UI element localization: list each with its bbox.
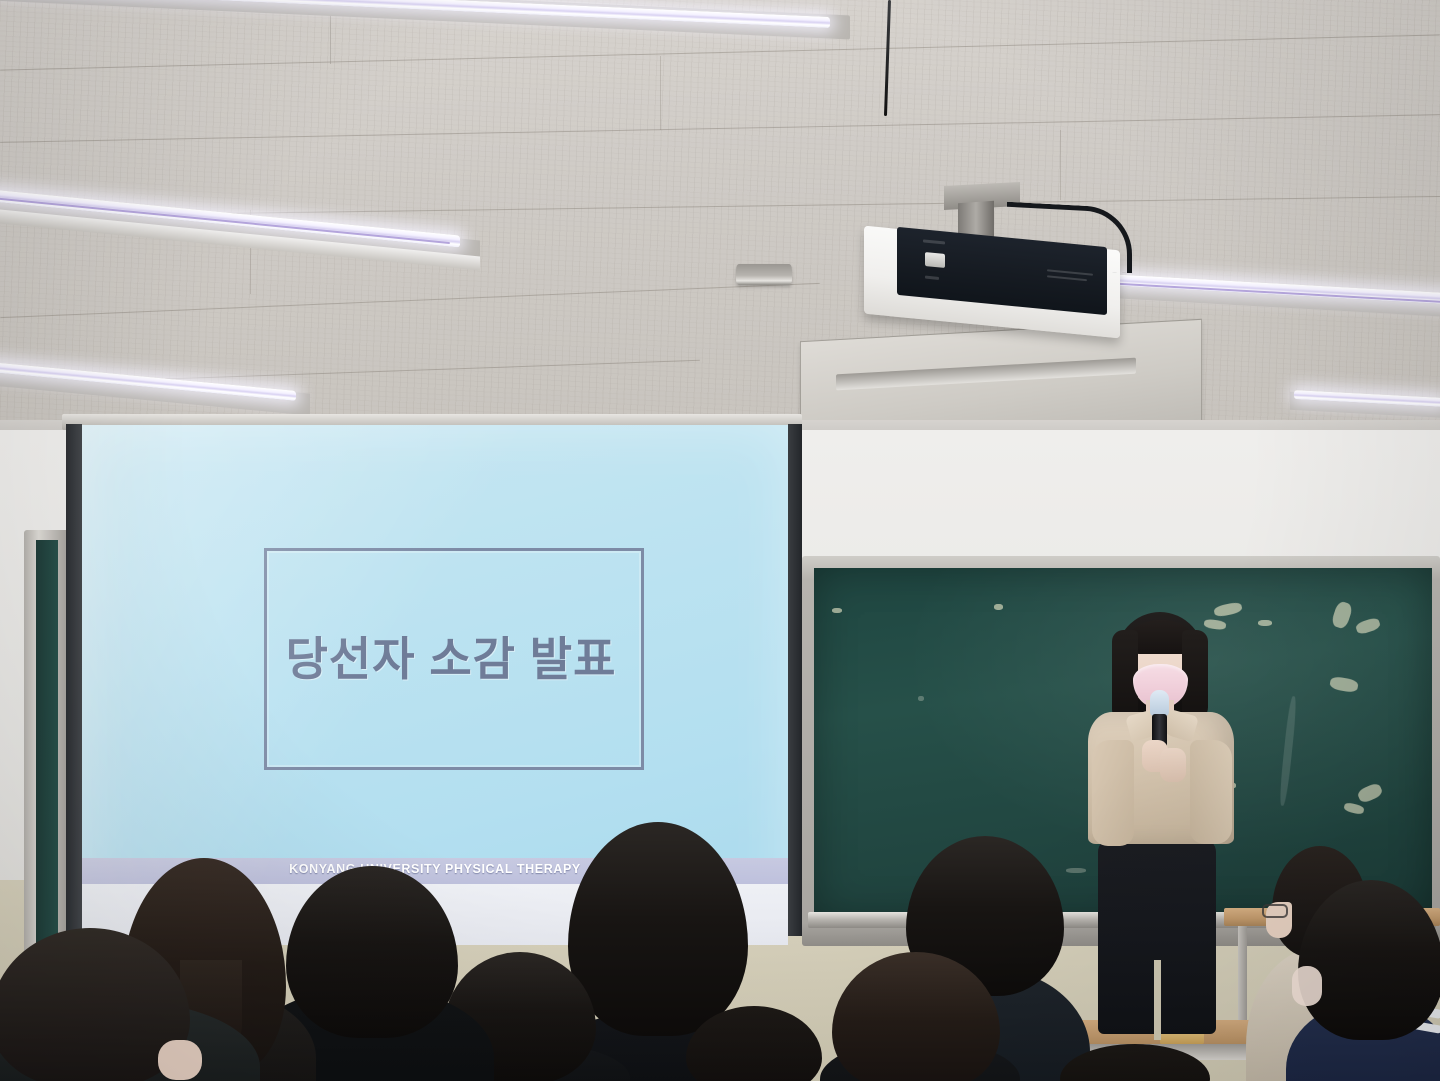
ceiling-tile-seam (660, 56, 661, 130)
projection-screen-left-edge (66, 424, 82, 948)
presenter-arm-right (1190, 740, 1232, 844)
slide-title: 당선자 소감 발표 (264, 548, 638, 764)
chalk-smudge (994, 604, 1003, 610)
audience-member-9-mask (1292, 966, 1322, 1006)
presenter-hand-right (1160, 748, 1186, 782)
chalk-smudge (1356, 782, 1384, 805)
projection-screen-right-edge (788, 424, 802, 936)
microphone-head (1150, 690, 1169, 716)
chalk-smudge (918, 696, 924, 701)
presenter-arm-left (1092, 740, 1134, 846)
chalk-smudge (1355, 617, 1382, 636)
chalk-smudge (1329, 676, 1359, 694)
chalk-smudge (1258, 620, 1272, 626)
audience-member-2-ear (158, 1040, 202, 1080)
ceiling-tile-seam (1060, 130, 1061, 200)
smoke-detector-icon (736, 264, 792, 285)
chalk-streak (1278, 696, 1297, 806)
chalk-smudge (1343, 802, 1365, 816)
chalk-smudge (1330, 600, 1353, 630)
lecture-hall-photo: 당선자 소감 발표 KONYANG UNIVERSITY PHYSICAL TH… (0, 0, 1440, 1081)
projector-lens (925, 252, 945, 268)
chalk-smudge (832, 608, 842, 613)
presenter-leg-gap (1154, 960, 1161, 1040)
glasses-icon (1262, 904, 1288, 918)
